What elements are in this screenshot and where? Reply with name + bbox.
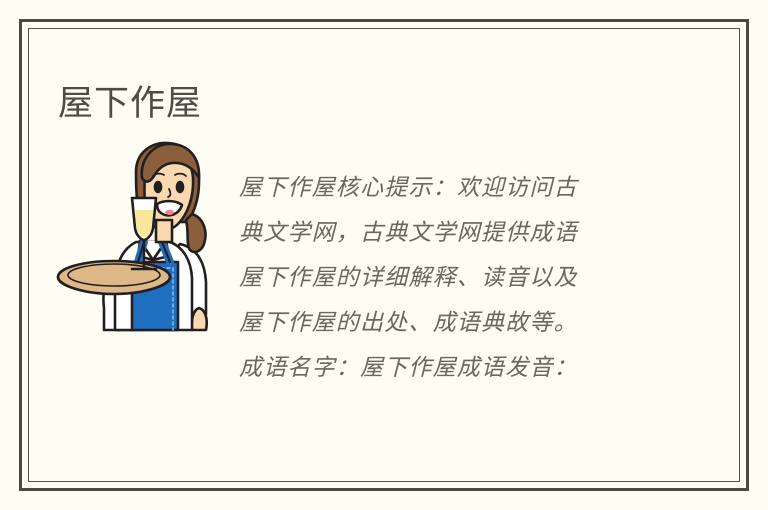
content-row: 屋下作屋核心提示：欢迎访问古 典文学网，古典文学网提供成语 屋下作屋的详细解释、…: [52, 138, 692, 398]
description-text-block: 屋下作屋核心提示：欢迎访问古 典文学网，古典文学网提供成语 屋下作屋的详细解释、…: [239, 138, 692, 391]
description-line-4: 屋下作屋的出处、成语典故等。: [239, 301, 692, 346]
description-line-1: 屋下作屋核心提示：欢迎访问古: [239, 166, 692, 211]
page-root: 屋下作屋: [0, 0, 768, 510]
page-title: 屋下作屋: [58, 81, 202, 127]
eye-left: [154, 181, 163, 193]
description-line-3: 屋下作屋的详细解释、读音以及: [239, 256, 692, 301]
eye-right: [176, 181, 185, 193]
ponytail: [186, 214, 206, 252]
description-line-5: 成语名字：屋下作屋成语发音：: [239, 346, 692, 391]
waitress-illustration: [52, 138, 217, 333]
description-line-2: 典文学网，古典文学网提供成语: [239, 211, 692, 256]
hand-right: [192, 308, 207, 330]
neck: [156, 220, 172, 242]
